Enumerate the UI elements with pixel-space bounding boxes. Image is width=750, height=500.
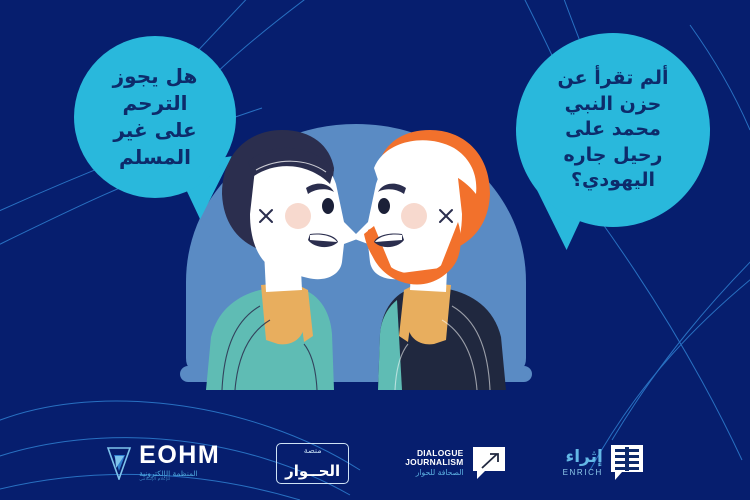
poster-canvas: هل يجوز الترحم على غير المسلم ألم تقرأ ع… — [0, 0, 750, 500]
hiwar-arabic-small: منصة — [304, 447, 322, 455]
logo-strip: EOHM المنظمة الإلكترونية للإعلام الإسلام… — [0, 432, 750, 494]
dj-arabic: الصحافة للحوار — [416, 469, 464, 478]
eohm-wordmark: EOHM — [139, 443, 220, 468]
right-speech-bubble-text: ألم تقرأ عن حزن النبي محمد على رحيل جاره… — [546, 66, 681, 193]
dialogue-journalism-logo[interactable]: DIALOGUE JOURNALISM الصحافة للحوار — [405, 445, 506, 481]
eohm-play-mark-icon — [106, 446, 132, 480]
left-speech-bubble: هل يجوز الترحم على غير المسلم — [74, 36, 236, 198]
right-speech-bubble: ألم تقرأ عن حزن النبي محمد على رحيل جاره… — [516, 33, 710, 227]
eohm-arabic-line2: للإعلام الإسلامي — [139, 478, 170, 483]
hiwar-arabic-large: الحــوار — [285, 464, 340, 479]
enrich-english: ENRICH — [563, 469, 603, 477]
enrich-logo[interactable]: إثراء ENRICH — [563, 444, 644, 482]
hiwar-platform-logo[interactable]: منصة الحــوار — [276, 443, 349, 484]
right-person — [352, 130, 506, 390]
eohm-arabic-line1: المنظمة الإلكترونية — [139, 470, 197, 477]
enrich-book-mark-icon — [610, 444, 644, 482]
dj-speech-arrow-icon — [471, 445, 507, 481]
enrich-arabic: إثراء — [566, 449, 603, 466]
dj-english-line2: JOURNALISM — [405, 458, 463, 467]
eohm-logo[interactable]: EOHM المنظمة الإلكترونية للإعلام الإسلام… — [106, 443, 220, 483]
left-speech-bubble-text: هل يجوز الترحم على غير المسلم — [101, 63, 210, 170]
